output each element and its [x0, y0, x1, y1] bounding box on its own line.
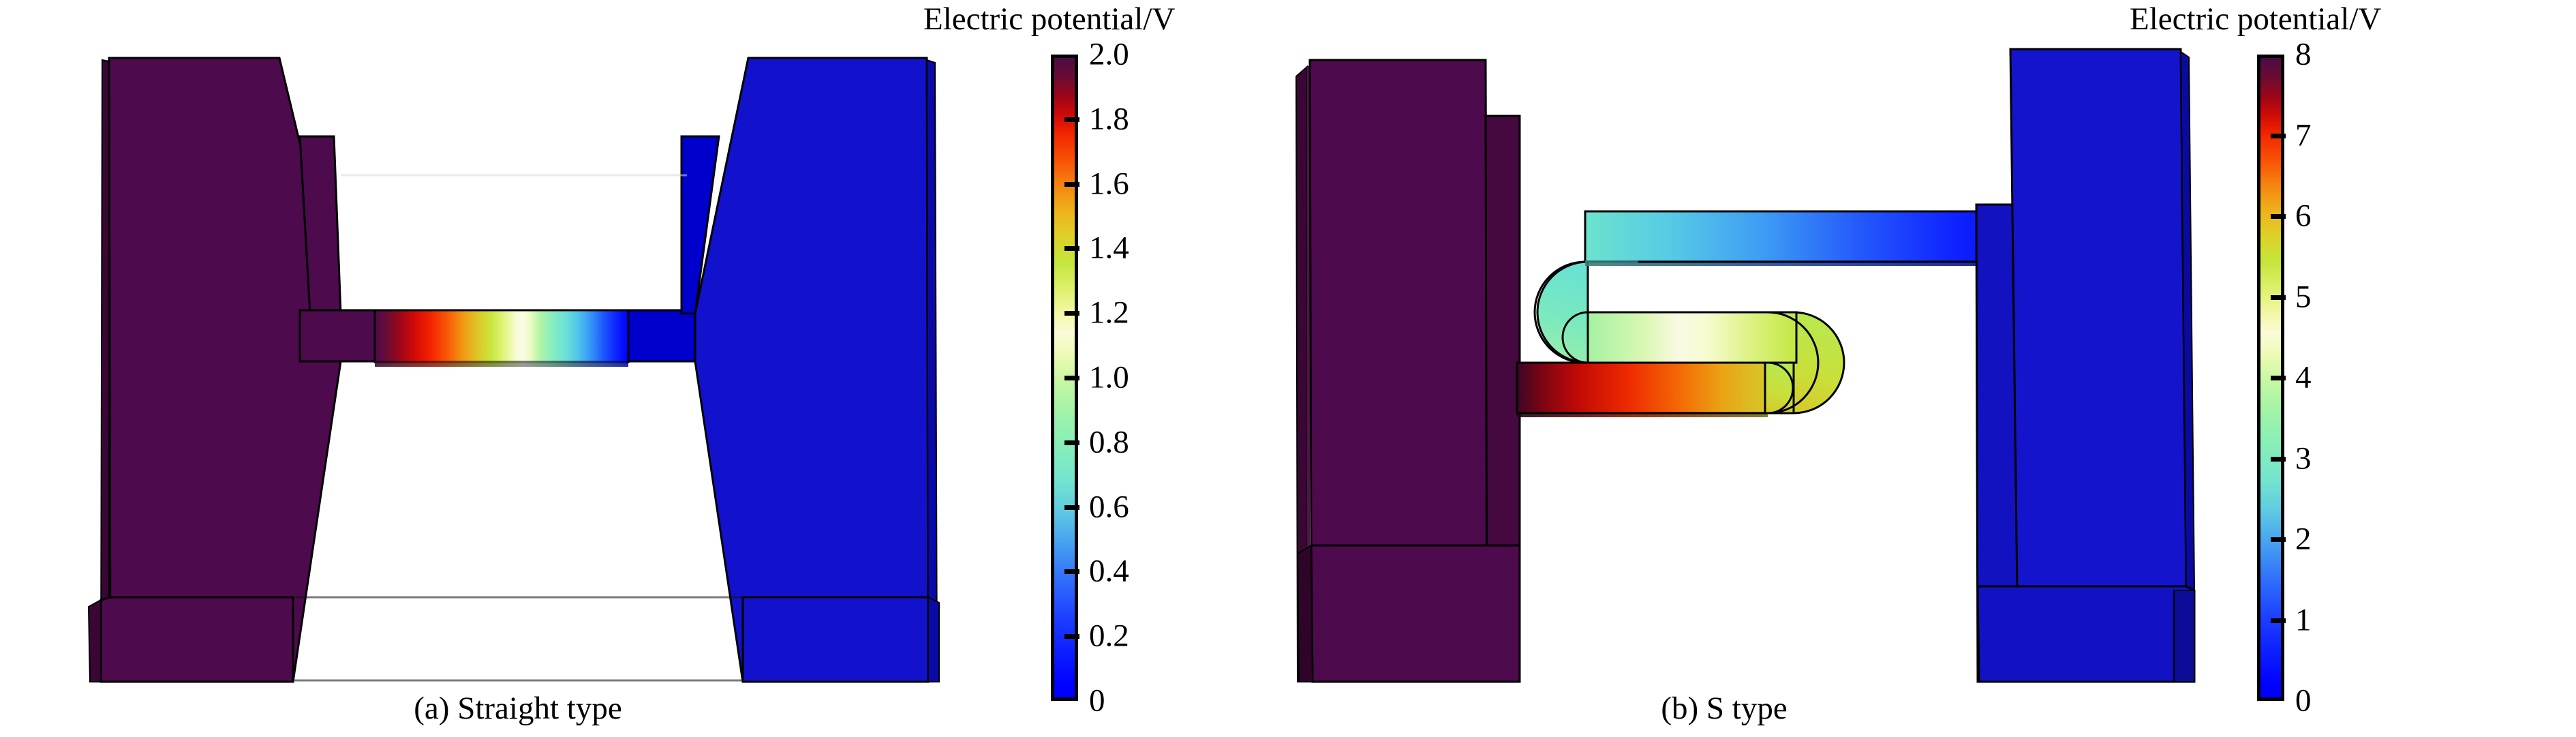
colorbar-b-tick-label: 0: [2295, 685, 2312, 717]
colorbar-a-tick-mark: [1064, 634, 1079, 639]
colorbar-a-tick-mark: [1064, 440, 1079, 445]
colorbar-b-tick-label: 3: [2295, 442, 2312, 475]
colorbar-a-tick-mark: [1064, 505, 1079, 510]
colorbar-b-tick-mark: [2271, 214, 2286, 219]
colorbar-b-tick-mark: [2271, 134, 2286, 138]
colorbar-b-tick-mark: [2271, 295, 2286, 300]
colorbar-ticks-b: 876543210: [2257, 55, 2284, 701]
depth-guide-lines: [293, 175, 744, 680]
panel-straight-type: Electric potential/V 2.01.81.61.41.21.00…: [0, 0, 1288, 737]
s-type-structure: [1288, 0, 2324, 682]
panel-s-type: Electric potential/V 876543210 (b) S typ…: [1288, 0, 2576, 737]
left-anchor-block: [89, 58, 375, 682]
straight-beam: [375, 310, 628, 367]
colorbar-a-tick-label: 0.8: [1089, 426, 1129, 458]
colorbar-b-tick-label: 8: [2295, 39, 2312, 71]
colorbar-a-tick-label: 0.6: [1089, 491, 1129, 523]
colorbar-a-tick-mark: [1064, 311, 1079, 316]
left-anchor-block-b: [1296, 60, 1520, 682]
colorbar-ticks-a: 2.01.81.61.41.21.00.80.60.40.20: [1051, 55, 1078, 701]
straight-type-structure: [0, 0, 1036, 682]
figure-root: Electric potential/V 2.01.81.61.41.21.00…: [0, 0, 2576, 737]
colorbar-a-tick-label: 1.0: [1089, 362, 1129, 394]
colorbar-a-tick-mark: [1064, 117, 1079, 122]
colorbar-a-tick-label: 1.6: [1089, 168, 1129, 200]
colorbar-a: 2.01.81.61.41.21.00.80.60.40.20: [1051, 55, 1078, 701]
right-anchor-block-b: [1976, 49, 2194, 682]
colorbar-a-tick-label: 0: [1089, 685, 1105, 717]
colorbar-b-tick-label: 6: [2295, 200, 2312, 232]
caption-panel-b: (b) S type: [1288, 690, 2160, 727]
colorbar-b: 876543210: [2257, 55, 2284, 701]
colorbar-a-tick-mark: [1064, 246, 1079, 251]
colorbar-b-tick-label: 5: [2295, 281, 2312, 313]
colorbar-title-b: Electric potential/V: [2130, 1, 2381, 37]
colorbar-b-tick-mark: [2271, 457, 2286, 462]
colorbar-b-tick-label: 2: [2295, 524, 2312, 556]
colorbar-a-tick-label: 0.4: [1089, 556, 1129, 588]
colorbar-a-tick-label: 1.4: [1089, 232, 1129, 265]
colorbar-a-tick-mark: [1064, 182, 1079, 187]
colorbar-b-tick-label: 1: [2295, 604, 2312, 636]
colorbar-a-tick-mark: [1064, 376, 1079, 380]
colorbar-a-tick-label: 2.0: [1089, 39, 1129, 71]
colorbar-a-tick-label: 0.2: [1089, 620, 1129, 652]
colorbar-title-a: Electric potential/V: [923, 1, 1175, 37]
colorbar-b-tick-mark: [2271, 376, 2286, 380]
caption-panel-a: (a) Straight type: [0, 690, 1036, 727]
colorbar-a-tick-label: 1.2: [1089, 297, 1129, 329]
colorbar-b-tick-mark: [2271, 618, 2286, 623]
colorbar-a-tick-mark: [1064, 569, 1079, 574]
colorbar-b-tick-label: 4: [2295, 362, 2312, 394]
colorbar-b-tick-label: 7: [2295, 119, 2312, 151]
right-anchor-block: [628, 58, 939, 682]
colorbar-a-tick-label: 1.8: [1089, 103, 1129, 135]
colorbar-b-tick-mark: [2271, 537, 2286, 542]
